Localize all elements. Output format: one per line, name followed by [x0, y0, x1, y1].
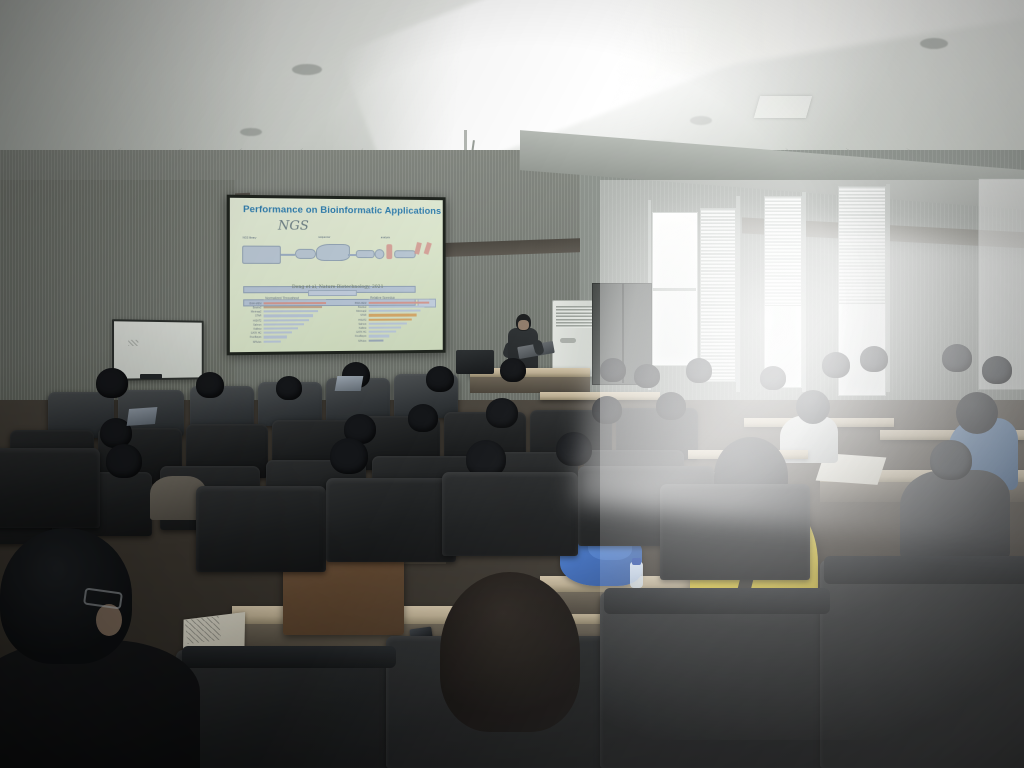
audience-head — [760, 366, 786, 390]
chart-bar-label: Minimap2 — [236, 311, 261, 314]
whiteboard — [112, 319, 204, 381]
chart-bar — [368, 322, 406, 324]
audience-head — [486, 398, 518, 428]
front-desk-panel — [470, 377, 590, 393]
chart-bar — [368, 339, 383, 341]
chart-bar-label: HISAT2 — [236, 319, 261, 322]
foreground-person-long-hair — [440, 572, 580, 732]
lecture-hall-photo: Performance on Bioinformatic Application… — [0, 0, 1024, 768]
chart-bar — [263, 315, 313, 318]
slide-content: Performance on Bioinformatic Application… — [230, 198, 443, 352]
chart-bar-label: BWA-MEM — [342, 302, 366, 305]
chart-bar-label: GATK HC — [236, 332, 261, 335]
chart-bar-row: Bowtie2 — [342, 306, 434, 309]
audience-head — [600, 358, 626, 382]
chart-bar-row: FreeBayes — [342, 335, 434, 338]
seat — [600, 592, 830, 768]
laptop — [127, 407, 158, 426]
slide-caption: Deng et al, Nature Biotechnology, 2021 — [292, 285, 384, 290]
audience-head — [634, 364, 660, 388]
chart-bar-label: Salmon — [342, 323, 366, 326]
audience-head — [276, 376, 302, 400]
chart-bar — [263, 302, 326, 304]
chart-bar-label: Salmon — [236, 323, 261, 326]
chart-bar-label: FreeBayes — [342, 335, 366, 338]
seat — [196, 486, 326, 572]
audience-head — [656, 392, 686, 420]
water-bottle-clear — [630, 562, 643, 588]
audience-head — [330, 438, 368, 474]
chart-bar-row: Salmon — [236, 323, 331, 326]
seat-armrest — [182, 646, 396, 668]
chart-bar-row: GATK HC — [236, 331, 331, 334]
window-frame — [736, 196, 740, 392]
audience-head — [796, 390, 830, 424]
seat — [820, 560, 1024, 768]
chart-bar-row: Bowtie2 — [236, 306, 331, 309]
chart-bar — [263, 336, 286, 338]
audience-head — [942, 344, 972, 372]
chart-bar-label: STAR — [236, 315, 261, 318]
bottle-cap — [632, 558, 641, 565]
chart-bar — [368, 310, 420, 312]
whiteboard-tray — [140, 374, 162, 379]
chart-bar-row: Minimap2 — [236, 310, 331, 313]
chart-bar — [263, 323, 303, 326]
chart-bar — [263, 332, 292, 334]
slide-title: Performance on Bioinformatic Application… — [243, 204, 434, 217]
window-blinds — [764, 196, 802, 306]
chart-bar-label: BWA-MEM — [236, 302, 261, 305]
audience-head — [860, 346, 888, 372]
front-monitor — [456, 350, 494, 374]
chart-bar-row: HISAT2 — [236, 319, 331, 322]
chart-bar — [368, 331, 395, 333]
chart-bar-row: STAR — [236, 314, 331, 317]
chart-bar — [263, 319, 308, 322]
chart-bar-row: Kallisto — [342, 326, 434, 329]
chart-bar-row: SPAdes — [342, 339, 434, 342]
chart-bar — [368, 314, 416, 316]
chart-bar — [263, 310, 318, 313]
chart-bar-label: GATK HC — [342, 331, 366, 334]
seat — [326, 478, 456, 562]
chart-bar — [368, 318, 411, 320]
audience-head — [500, 358, 526, 382]
audience-head — [592, 396, 622, 424]
paper-writing — [185, 616, 222, 644]
window-frame — [802, 192, 806, 392]
air-conditioner-logo — [560, 338, 576, 343]
seat — [660, 484, 810, 580]
audience-head — [956, 392, 998, 434]
seat — [442, 472, 578, 556]
chart-bar-label: SPAdes — [342, 339, 366, 342]
chart-bar-row: Salmon — [342, 322, 434, 325]
chart-bar-row: BWA-MEM — [236, 302, 331, 305]
chart-bar-row: HISAT2 — [342, 318, 434, 321]
audience-person-dark — [900, 470, 1010, 560]
air-conditioner-grille-icon — [556, 306, 594, 328]
audience-head — [686, 358, 712, 383]
chart-bar-label: Bowtie2 — [236, 306, 261, 309]
window-blinds — [838, 186, 886, 304]
audience-head — [822, 352, 850, 378]
chart-bar-label: HISAT2 — [342, 318, 366, 321]
audience-head — [556, 432, 592, 466]
ceiling-vent-icon — [240, 128, 262, 136]
audience-head — [930, 440, 972, 480]
slide-diagram: NGS library sequencer analysis — [239, 235, 435, 281]
slide-chart-right: Relative Speedup BWA-MEMBowtie2Minimap2S… — [342, 294, 434, 344]
chart-bar — [263, 327, 298, 329]
chart-bar-label: Kallisto — [342, 327, 366, 330]
audience-head — [982, 356, 1012, 384]
chart-bar — [368, 327, 401, 329]
audience-head — [426, 366, 454, 392]
whiteboard-marking — [128, 340, 138, 346]
chart-bar-row: GATK HC — [342, 330, 434, 333]
audience-head — [106, 444, 142, 478]
seat-armrest — [824, 556, 1024, 584]
seat-armrest — [604, 588, 830, 614]
chart-bar-label: Minimap2 — [342, 310, 366, 313]
projection-screen: Performance on Bioinformatic Application… — [227, 195, 446, 356]
chart-bar-row: Minimap2 — [342, 310, 434, 313]
window-mullion — [652, 288, 696, 291]
chart-bar-label: FreeBayes — [236, 336, 261, 339]
chart-bar — [368, 306, 424, 308]
presenter-face — [518, 320, 529, 330]
chart-bar-row: BWA-MEM — [342, 301, 434, 304]
audience-head — [96, 368, 128, 398]
chart-bar-label: Bowtie2 — [342, 306, 366, 309]
chart-bar — [263, 306, 321, 308]
chart-bar-row: Kallisto — [236, 327, 331, 330]
window-blinds — [700, 208, 736, 382]
chart-bar-row: FreeBayes — [236, 336, 331, 339]
chart-bar — [263, 340, 281, 342]
chart-bar-row: SPAdes — [236, 340, 331, 343]
chart-bar — [368, 301, 429, 303]
seat — [0, 448, 100, 528]
slide-chart-left: Normalized Throughput BWA-MEMBowtie2Mini… — [236, 295, 331, 346]
laptop — [335, 376, 364, 391]
chart-bar-label: Kallisto — [236, 328, 261, 331]
audience-head — [408, 404, 438, 432]
slide-handwritten-annotation: NGS — [278, 218, 309, 233]
audience-head — [196, 372, 224, 398]
chart-bar-row: STAR — [342, 314, 434, 317]
chart-bar-label: SPAdes — [236, 340, 261, 343]
chart-bar-label: STAR — [342, 314, 366, 317]
chart-bar — [368, 335, 389, 337]
